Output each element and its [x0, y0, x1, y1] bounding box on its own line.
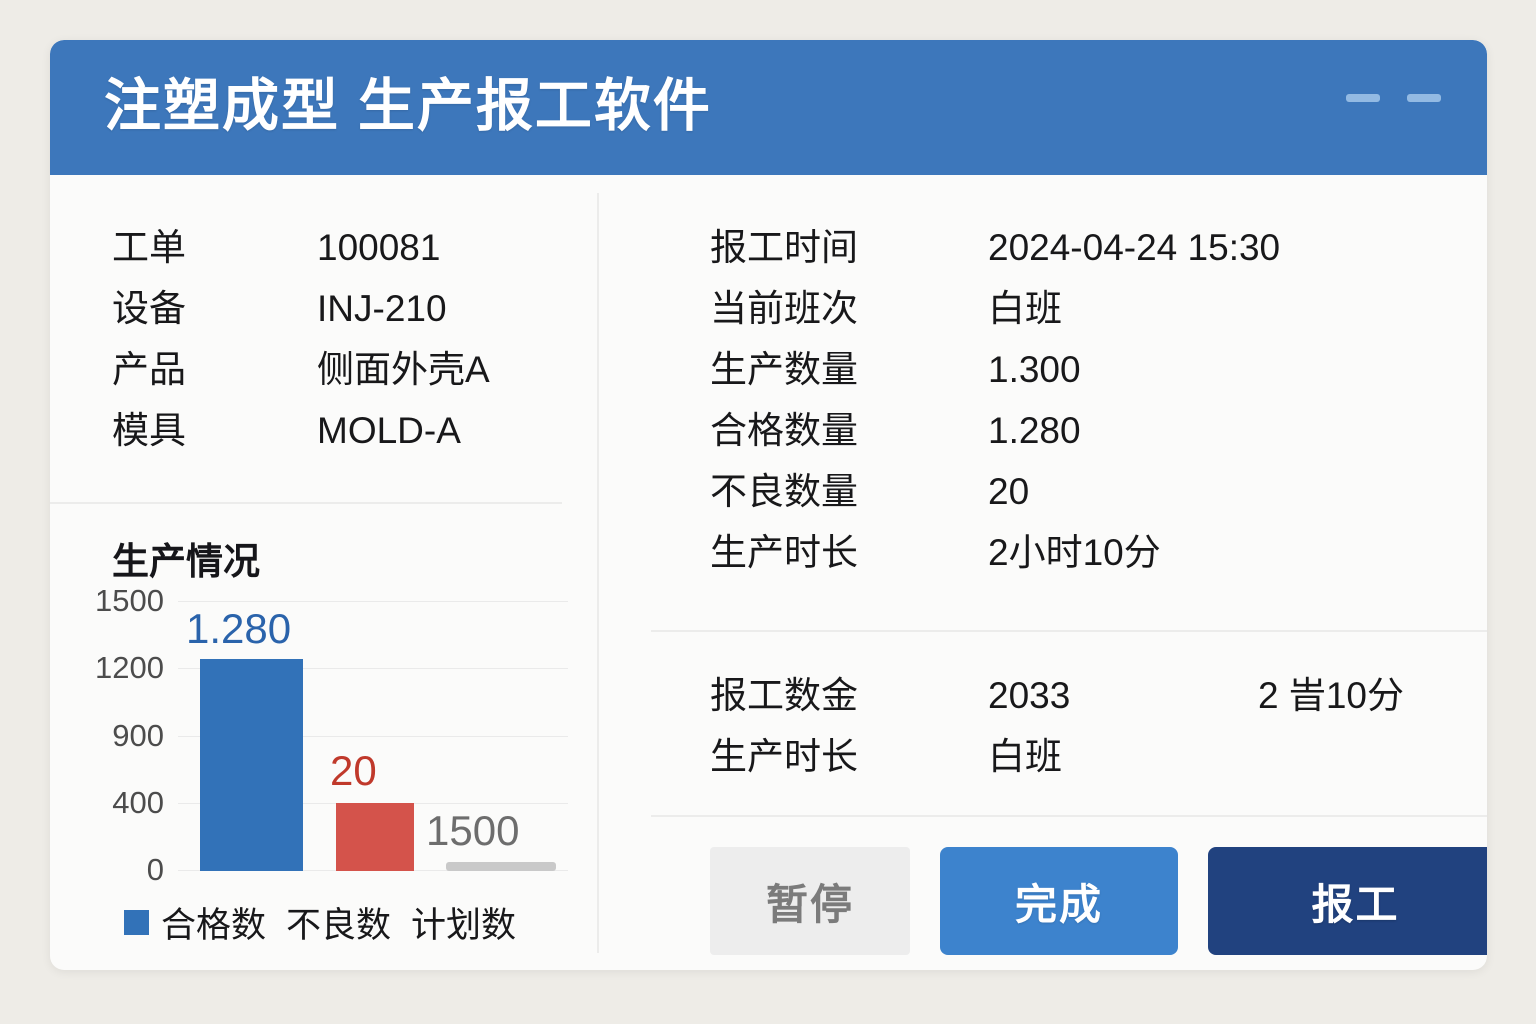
bar-value-label-planned: 1500: [426, 807, 519, 855]
report-summary-table: 报工数金 2033 2 旹10分 生产时长 白班: [710, 665, 1470, 787]
content-area: 工单 100081 设备 INJ-210 产品 侧面外壳A 模具 MOLD-A: [50, 175, 1487, 970]
y-axis-tick: 1200: [95, 650, 164, 686]
field-label-defective-qty: 不良数量: [710, 461, 988, 515]
field-value-report-amount: 2033: [988, 675, 1258, 717]
pause-button[interactable]: 暂停: [710, 847, 910, 955]
field-label-equipment: 设备: [112, 278, 317, 332]
bar-qualified[interactable]: [200, 659, 303, 871]
field-label-mold: 模具: [112, 400, 317, 454]
report-detail-table: 报工时间 2024-04-24 15:30 当前班次 白班 生产数量 1.300…: [710, 217, 1450, 583]
production-chart: 生产情况 1500 1200 900 400 0: [50, 523, 597, 963]
chart-bars: 1.280 20 1500: [178, 601, 568, 871]
legend-label-qualified: 合格数: [161, 897, 266, 948]
legend-label-planned: 计划数: [411, 897, 516, 948]
table-row: 报工时间 2024-04-24 15:30: [710, 217, 1450, 278]
field-value-duration-2: 白班: [988, 726, 1258, 780]
window-controls: [1346, 94, 1441, 102]
field-label-produced-qty: 生产数量: [710, 339, 988, 393]
table-row: 生产数量 1.300: [710, 339, 1450, 400]
right-section-divider-2: [651, 815, 1487, 817]
chart-title: 生产情况: [112, 531, 260, 585]
table-row: 不良数量 20: [710, 461, 1450, 522]
table-row: 工单 100081: [112, 217, 582, 278]
field-label-product: 产品: [112, 339, 317, 393]
y-axis-tick: 1500: [95, 583, 164, 619]
table-row: 生产时长 白班: [710, 726, 1470, 787]
table-row: 当前班次 白班: [710, 278, 1450, 339]
table-row: 设备 INJ-210: [112, 278, 582, 339]
bar-defective[interactable]: [336, 803, 414, 871]
field-value-work-order: 100081: [317, 227, 440, 269]
bar-value-label-defective: 20: [330, 747, 377, 795]
table-row: 报工数金 2033 2 旹10分: [710, 665, 1470, 726]
y-axis-tick: 900: [112, 718, 164, 754]
legend-swatch-qualified: [124, 910, 149, 935]
field-value-produced-qty: 1.300: [988, 349, 1258, 391]
field-value-report-time: 2024-04-24 15:30: [988, 227, 1258, 269]
field-label-report-amount: 报工数金: [710, 665, 988, 719]
finish-button[interactable]: 完成: [940, 847, 1178, 955]
table-row: 模具 MOLD-A: [112, 400, 582, 461]
field-label-work-order: 工单: [112, 217, 317, 271]
table-row: 产品 侧面外壳A: [112, 339, 582, 400]
left-section-divider: [50, 502, 562, 504]
field-value-duration: 2小时10分: [988, 522, 1258, 576]
right-column: 报工时间 2024-04-24 15:30 当前班次 白班 生产数量 1.300…: [599, 175, 1487, 970]
field-value-qualified-qty: 1.280: [988, 410, 1258, 452]
field-value-defective-qty: 20: [988, 471, 1258, 513]
field-value-mold: MOLD-A: [317, 410, 461, 452]
bar-value-label-qualified: 1.280: [186, 605, 291, 653]
y-axis-tick: 0: [147, 852, 164, 888]
app-window-card: 注塑成型 生产报工软件 工单 100081 设备 INJ-210 产品 侧: [50, 40, 1487, 970]
maximize-icon[interactable]: [1407, 94, 1441, 102]
field-extra-report-amount: 2 旹10分: [1258, 665, 1404, 719]
action-button-row: 暂停 完成 报工: [710, 847, 1487, 955]
table-row: 生产时长 2小时10分: [710, 522, 1450, 583]
chart-plot-area: 1500 1200 900 400 0: [178, 601, 568, 871]
minimize-icon[interactable]: [1346, 94, 1380, 102]
legend-label-defective: 不良数: [286, 897, 391, 948]
app-title: 注塑成型 生产报工软件: [104, 70, 712, 142]
field-label-report-time: 报工时间: [710, 217, 988, 271]
field-value-shift: 白班: [988, 278, 1258, 332]
field-value-equipment: INJ-210: [317, 288, 447, 330]
field-value-product: 侧面外壳A: [317, 339, 490, 393]
right-section-divider-1: [651, 630, 1487, 632]
report-work-button[interactable]: 报工: [1208, 847, 1487, 955]
left-column: 工单 100081 设备 INJ-210 产品 侧面外壳A 模具 MOLD-A: [50, 175, 597, 970]
bar-planned[interactable]: [446, 862, 556, 871]
field-label-shift: 当前班次: [710, 278, 988, 332]
table-row: 合格数量 1.280: [710, 400, 1450, 461]
field-label-duration-2: 生产时长: [710, 726, 988, 780]
work-order-info-table: 工单 100081 设备 INJ-210 产品 侧面外壳A 模具 MOLD-A: [112, 217, 582, 461]
field-label-duration: 生产时长: [710, 522, 988, 576]
title-bar: 注塑成型 生产报工软件: [50, 40, 1487, 175]
field-label-qualified-qty: 合格数量: [710, 400, 988, 454]
chart-legend: 合格数 不良数 计划数: [124, 897, 516, 948]
y-axis-tick: 400: [112, 785, 164, 821]
